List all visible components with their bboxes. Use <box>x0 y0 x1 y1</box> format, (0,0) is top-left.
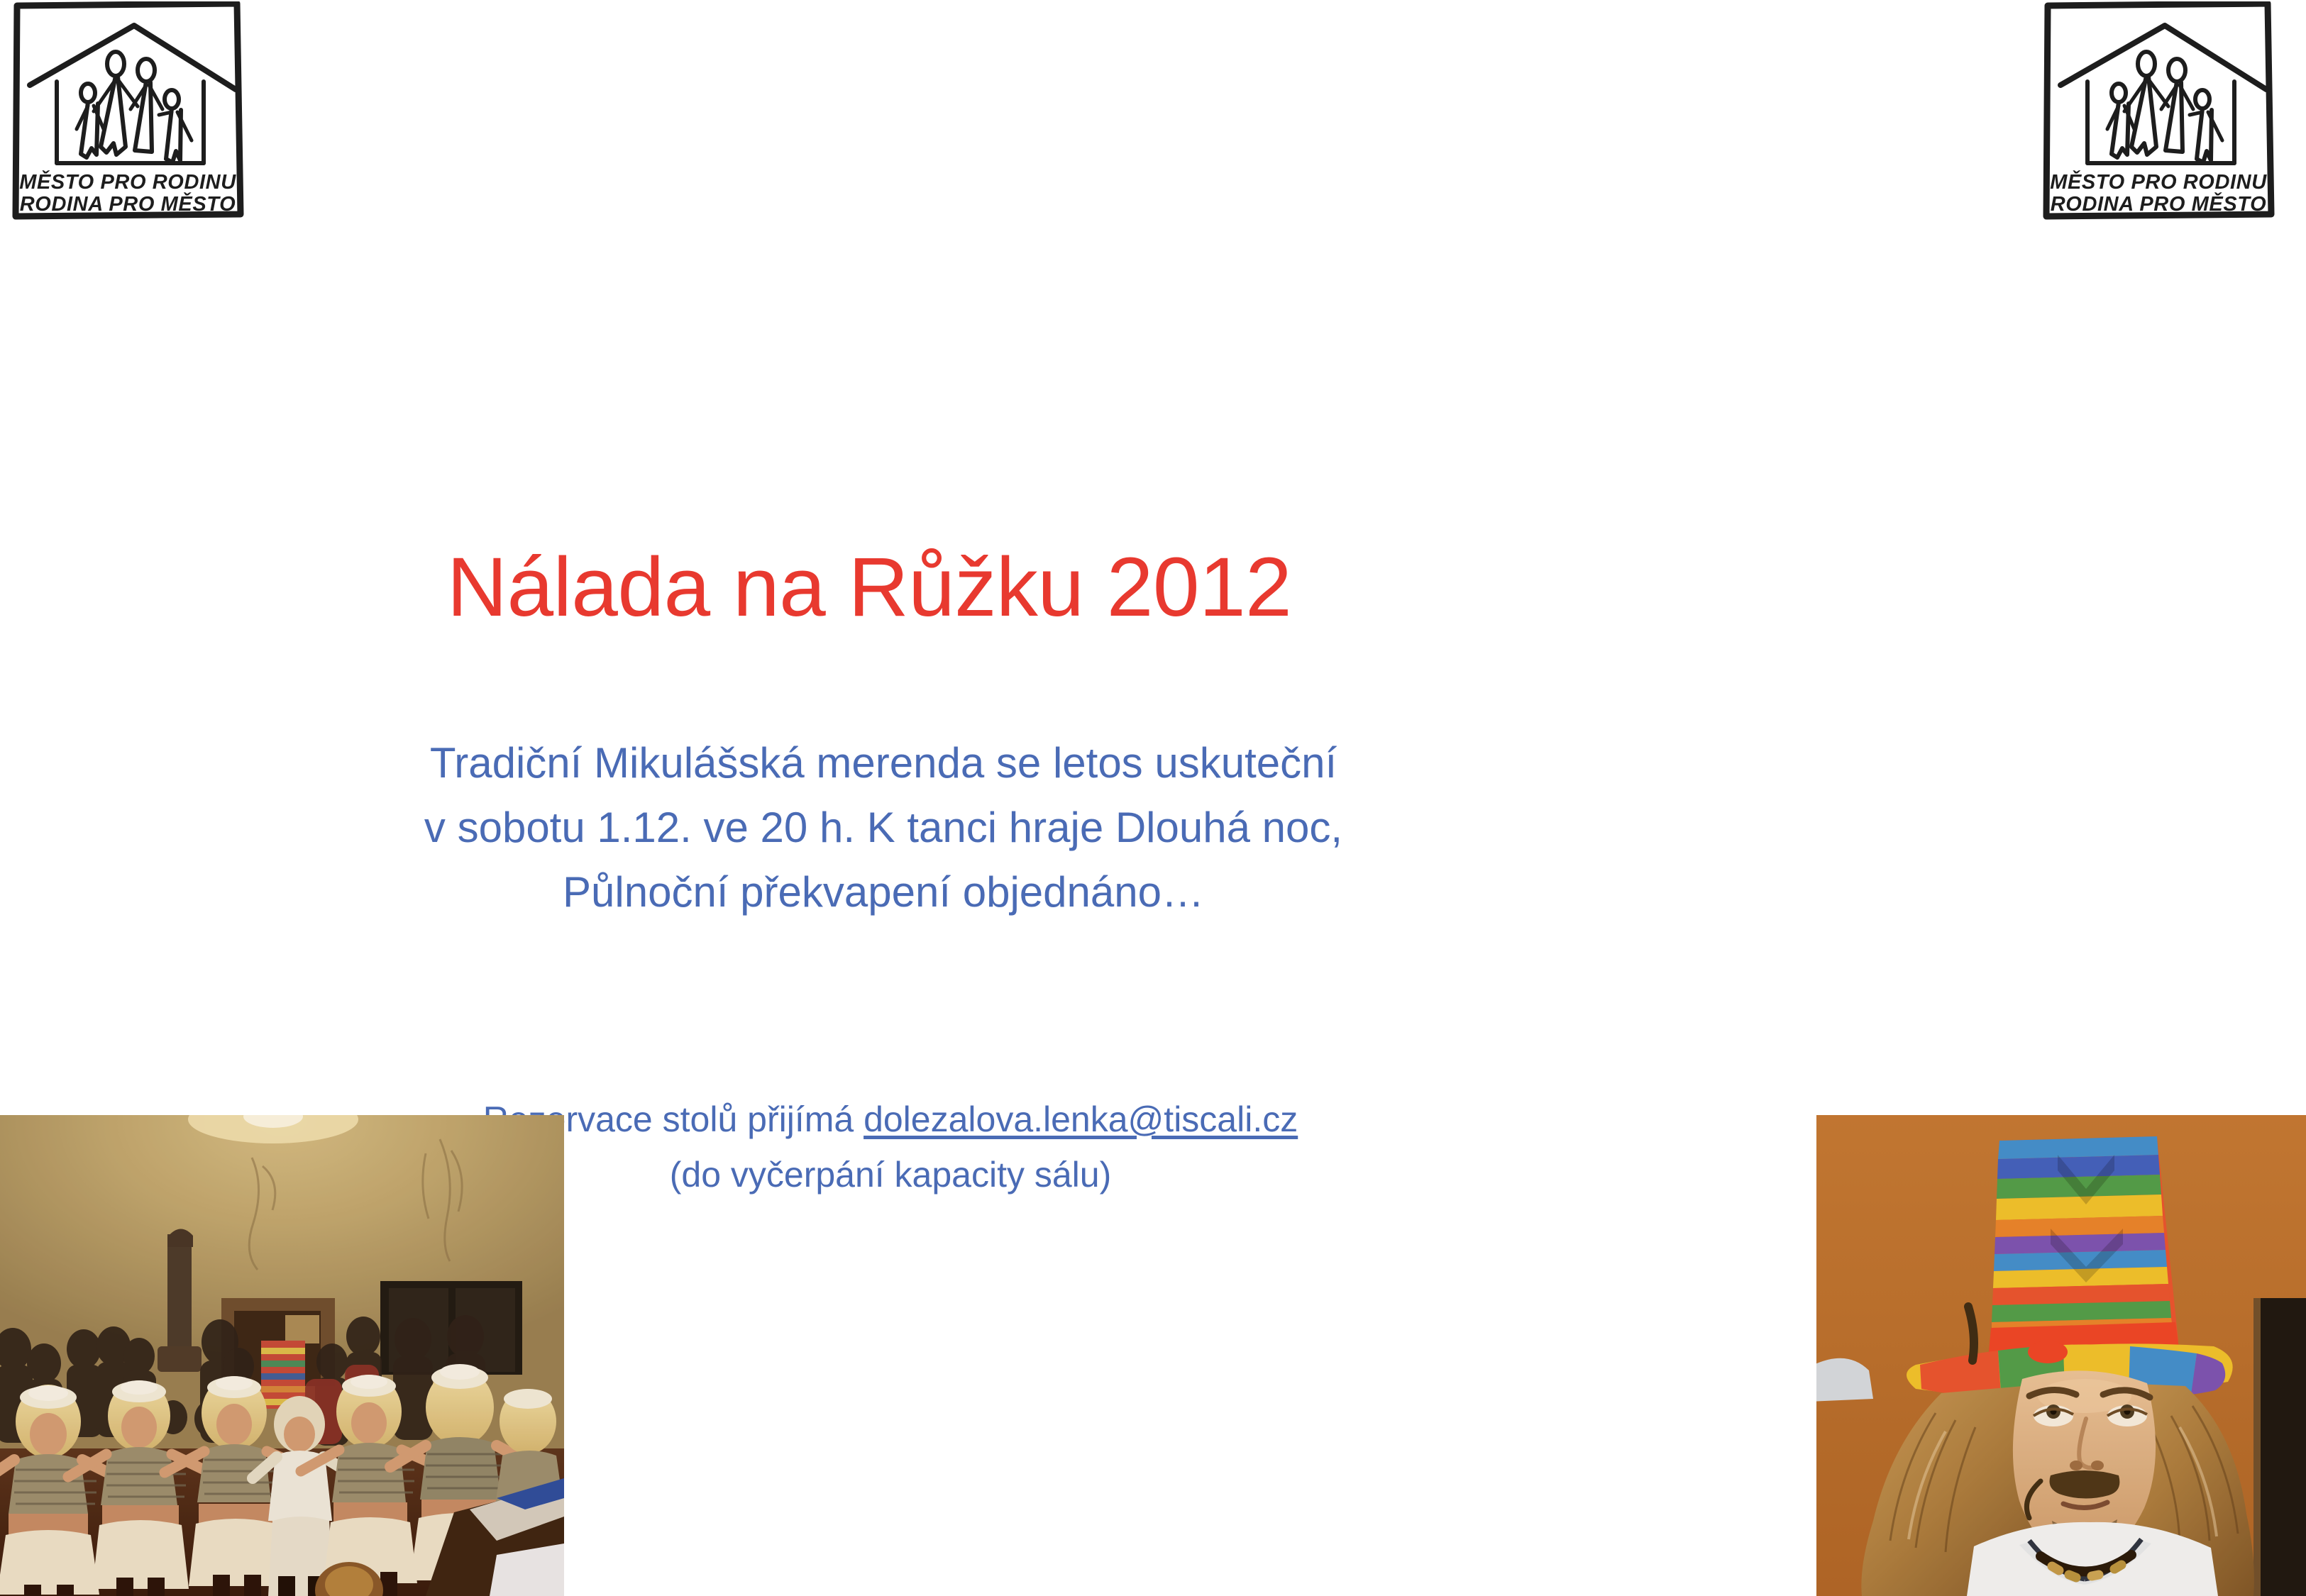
logo-mesto-pro-rodinu-left: MĚSTO PRO RODINU RODINA PRO MĚSTO <box>10 1 244 221</box>
description-line-1: Tradiční Mikulášská merenda se letos usk… <box>0 731 1767 795</box>
page-title: Nálada na Růžku 2012 <box>0 545 1738 629</box>
logo-line-2: RODINA PRO MĚSTO <box>2051 192 2266 216</box>
description-line-3: Půlnoční překvapení objednáno… <box>0 860 1767 924</box>
photo-rainbow-hat <box>1816 1115 2306 1596</box>
logo-line-2: RODINA PRO MĚSTO <box>20 192 236 216</box>
reservation-email-link[interactable]: dolezalova.lenka@tiscali.cz <box>864 1099 1298 1139</box>
description-line-2: v sobotu 1.12. ve 20 h. K tanci hraje Dl… <box>0 795 1767 860</box>
event-description: Tradiční Mikulášská merenda se letos usk… <box>0 731 1767 925</box>
logo-line-1: MĚSTO PRO RODINU <box>19 170 236 194</box>
logo-line-1: MĚSTO PRO RODINU <box>2050 170 2267 194</box>
photo-dancers <box>0 1115 564 1596</box>
logo-mesto-pro-rodinu-right: MĚSTO PRO RODINU RODINA PRO MĚSTO <box>2041 1 2275 221</box>
